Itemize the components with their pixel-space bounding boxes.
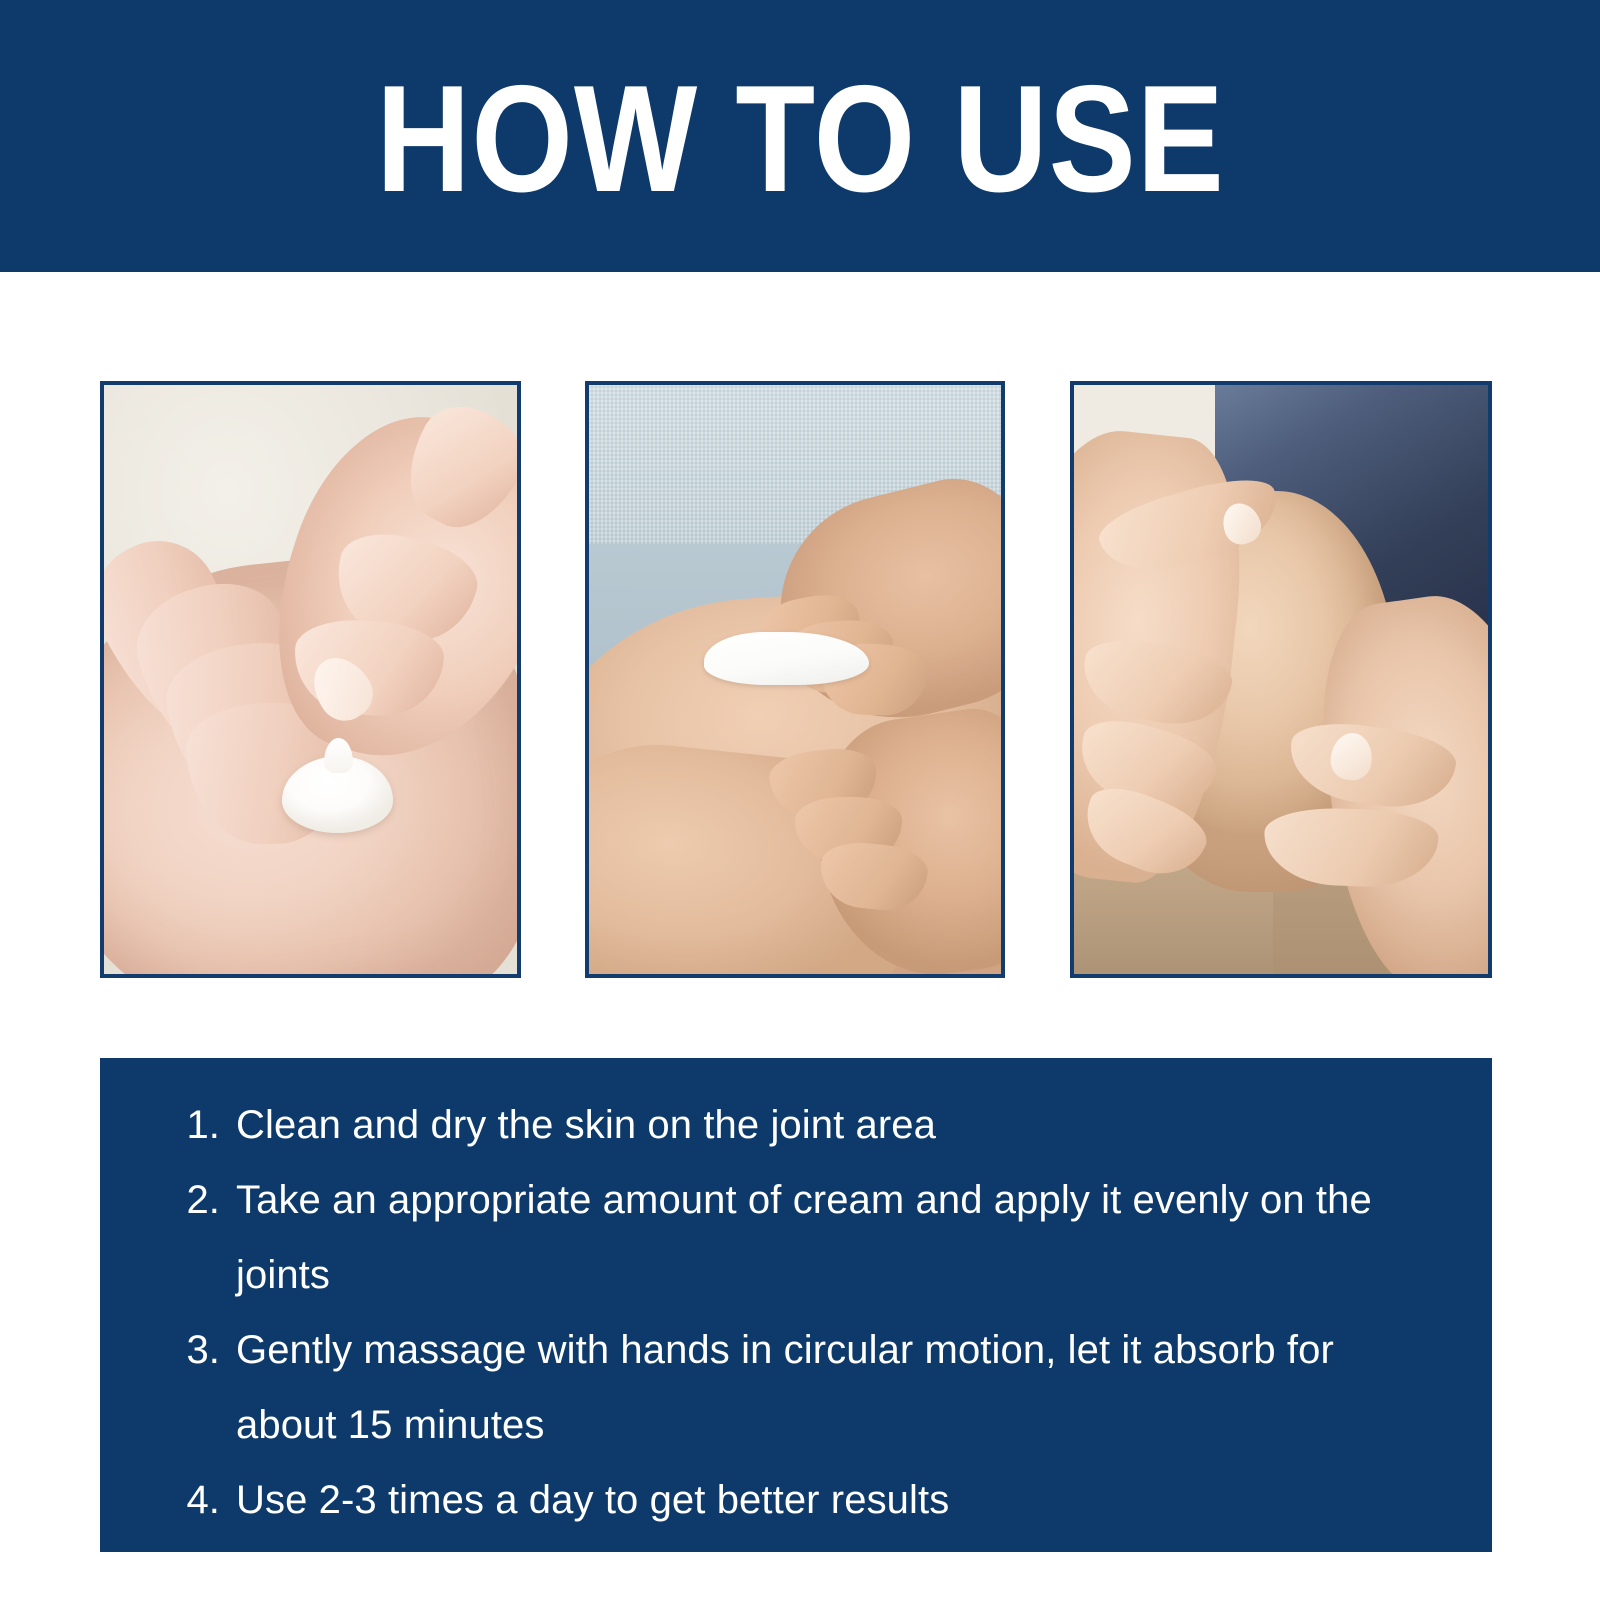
photo-strip	[100, 381, 1492, 978]
how-to-use-infographic: HOW TO USE	[0, 0, 1600, 1600]
instructions-panel: 1. Clean and dry the skin on the joint a…	[100, 1058, 1492, 1552]
instruction-step: 1. Clean and dry the skin on the joint a…	[162, 1088, 1440, 1163]
step-text: Use 2-3 times a day to get better result…	[236, 1463, 1416, 1538]
instruction-step: 4. Use 2-3 times a day to get better res…	[162, 1463, 1440, 1538]
page-title: HOW TO USE	[376, 63, 1225, 215]
instructions-list: 1. Clean and dry the skin on the joint a…	[162, 1088, 1440, 1538]
step-number: 2.	[162, 1163, 236, 1238]
photo-2-canvas	[589, 385, 1001, 974]
step-number: 4.	[162, 1463, 236, 1538]
step-photo-massaging-knee	[1070, 381, 1492, 978]
photo-3-canvas	[1074, 385, 1488, 974]
step-text: Clean and dry the skin on the joint area	[236, 1088, 1416, 1163]
instruction-step: 2. Take an appropriate amount of cream a…	[162, 1163, 1440, 1313]
step-number: 1.	[162, 1088, 236, 1163]
instruction-step: 3. Gently massage with hands in circular…	[162, 1313, 1440, 1463]
step-photo-cream-on-knee	[585, 381, 1005, 978]
step-text: Take an appropriate amount of cream and …	[236, 1163, 1416, 1313]
step-number: 3.	[162, 1313, 236, 1388]
step-photo-cream-on-palm	[100, 381, 521, 978]
photo-2-cream-smear	[704, 632, 869, 685]
header-bar: HOW TO USE	[0, 0, 1600, 272]
step-text: Gently massage with hands in circular mo…	[236, 1313, 1416, 1463]
photo-1-canvas	[104, 385, 517, 974]
